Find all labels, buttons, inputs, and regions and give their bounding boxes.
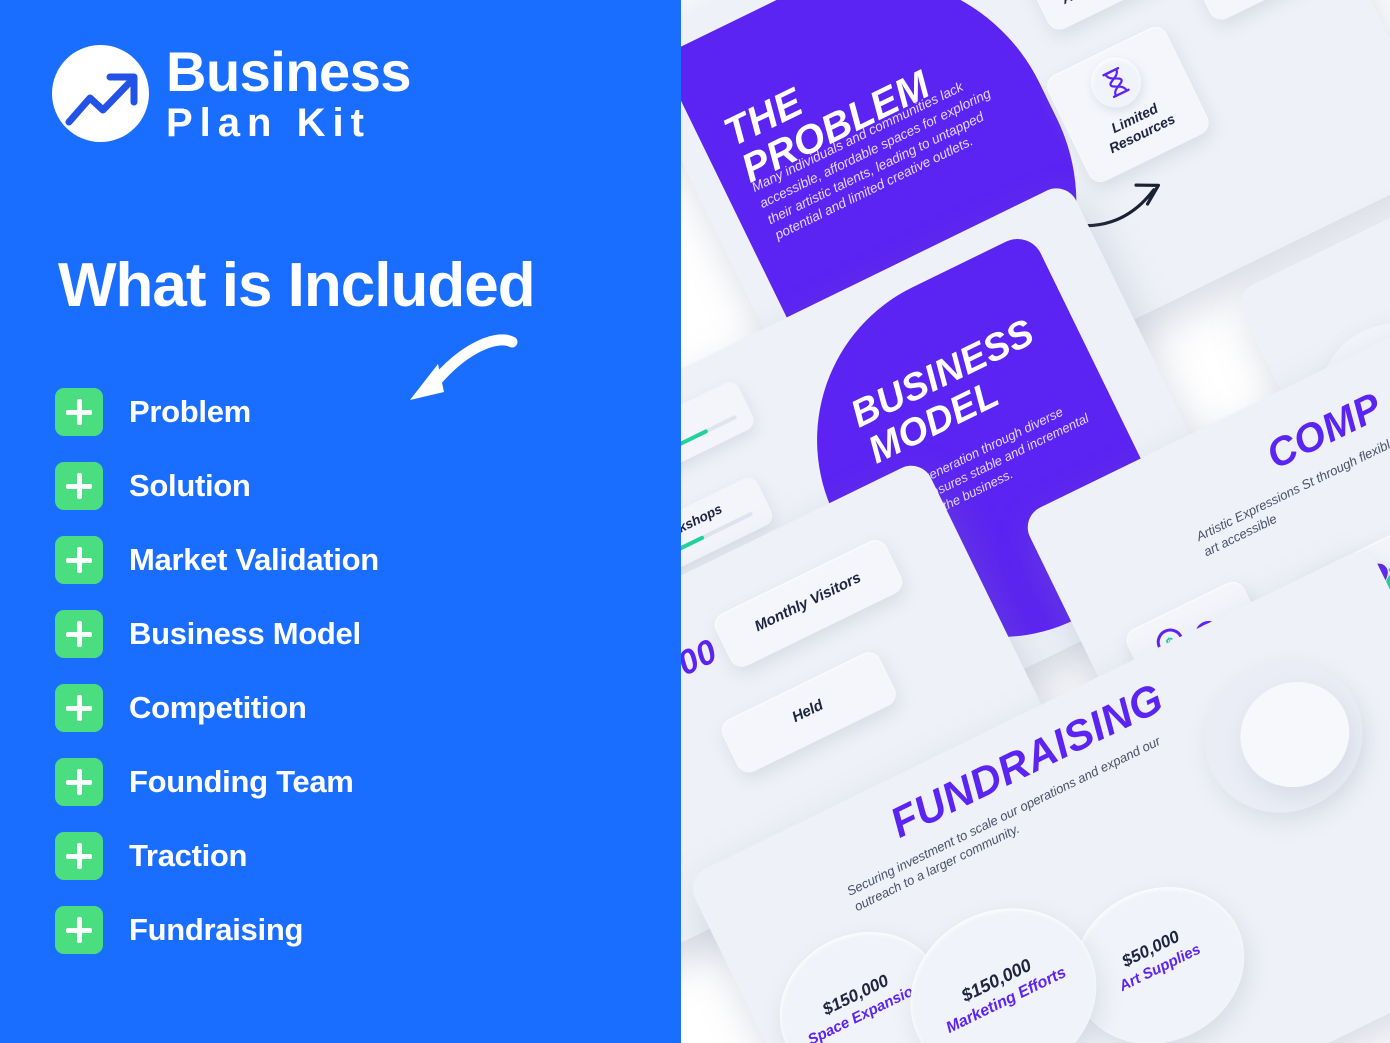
plus-icon [55, 536, 103, 584]
list-item-label: Problem [129, 394, 251, 430]
list-item[interactable]: Business Model [55, 610, 379, 658]
list-item[interactable]: Market Validation [55, 536, 379, 584]
growth-chart-arrow-icon [52, 45, 149, 142]
list-item-label: Market Validation [129, 542, 379, 578]
problem-card-label: Lack of Accessibility [1036, 0, 1158, 14]
list-item[interactable]: Solution [55, 462, 379, 510]
plus-icon [55, 610, 103, 658]
included-features-list: Problem Solution Market Validation Busin… [55, 388, 379, 954]
brand-logo: Business Plan Kit [52, 44, 411, 143]
plus-icon [55, 684, 103, 732]
list-item[interactable]: Competition [55, 684, 379, 732]
list-item-label: Business Model [129, 616, 361, 652]
list-item-label: Traction [129, 838, 247, 874]
bar-track [681, 415, 737, 483]
list-item-label: Fundraising [129, 912, 303, 948]
page-title: What is Included [58, 250, 535, 321]
plus-icon [55, 758, 103, 806]
list-item[interactable]: Fundraising [55, 906, 379, 954]
traction-card-label: Held [737, 671, 880, 753]
brand-name-secondary: Plan Kit [166, 103, 411, 143]
brand-name-primary: Business [166, 44, 411, 100]
list-item-label: Founding Team [129, 764, 354, 800]
curved-down-left-arrow-icon [388, 330, 518, 415]
traction-card[interactable]: Held [717, 648, 900, 777]
template-showcase: THE PROBLEM Many individuals and communi… [681, 0, 1390, 1043]
plus-icon [55, 906, 103, 954]
bar-fill [681, 429, 708, 483]
list-item[interactable]: Problem [55, 388, 379, 436]
list-item[interactable]: Traction [55, 832, 379, 880]
plus-icon [55, 462, 103, 510]
list-item-label: Competition [129, 690, 307, 726]
plus-icon [55, 388, 103, 436]
traction-metric-value: 00 [681, 632, 724, 684]
plus-icon [55, 832, 103, 880]
list-item-label: Solution [129, 468, 251, 504]
traction-card[interactable]: Monthly Visitors [710, 536, 906, 671]
list-item[interactable]: Founding Team [55, 758, 379, 806]
traction-card-label: Monthly Visitors [730, 558, 887, 647]
problem-card-high-cost[interactable]: High Cost [1165, 0, 1329, 24]
left-promo-panel: Business Plan Kit What is Included Probl… [0, 0, 681, 1043]
